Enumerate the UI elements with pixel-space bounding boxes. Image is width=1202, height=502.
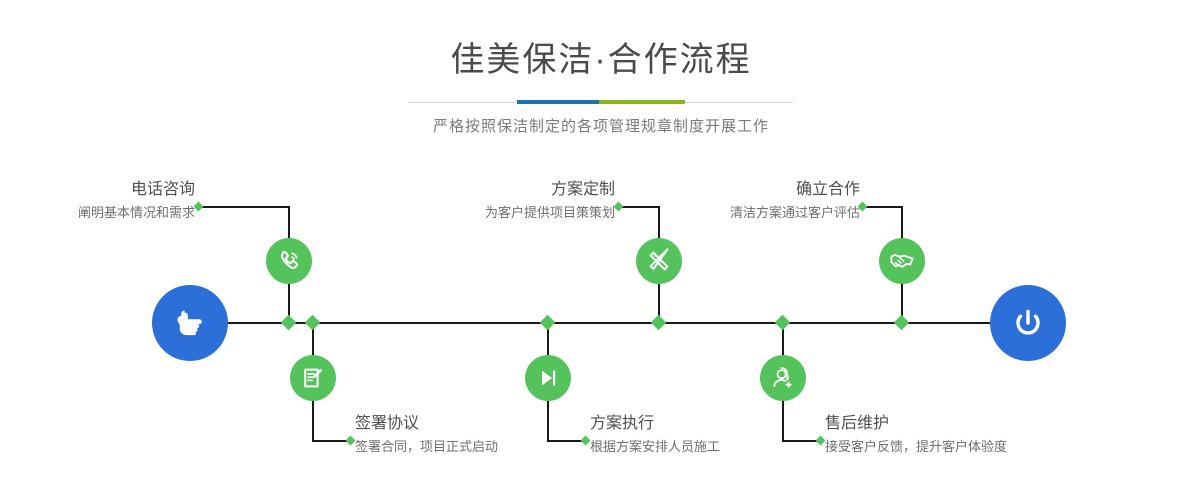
timeline-end-node [990,285,1066,361]
phone-call-icon [275,247,303,275]
step-node-1[interactable] [266,238,312,284]
divider-segment-green [599,100,685,104]
step-desc-6: 清洁方案通过客户评估 [505,204,860,222]
axis-marker-step-4 [540,315,556,331]
pointing-hand-icon [170,303,210,343]
step-title-1: 电话咨询 [0,180,195,200]
step-node-6[interactable] [879,238,925,284]
support-agent-add-icon [769,364,797,392]
step-label-5: 售后维护 接受客户反馈，提升客户体验度 [825,414,1185,456]
page-subtitle: 严格按照保洁制定的各项管理规章制度开展工作 [0,105,1202,137]
step-title-5: 售后维护 [825,414,1185,434]
step-node-3[interactable] [636,238,682,284]
play-execute-icon [534,364,562,392]
pencil-ruler-icon [645,247,673,275]
step-label-6: 确立合作 清洁方案通过客户评估 [505,180,860,222]
axis-marker-step-5 [775,315,791,331]
title-divider [409,100,793,105]
step-desc-1: 阐明基本情况和需求 [0,204,195,222]
document-edit-icon [299,364,327,392]
axis-marker-step-1 [281,315,297,331]
handshake-icon [888,247,916,275]
timeline-start-node [152,285,228,361]
connector-dot-step-2 [346,436,356,446]
page-header: 佳美保洁·合作流程 严格按照保洁制定的各项管理规章制度开展工作 [0,0,1202,137]
step-node-2[interactable] [290,355,336,401]
step-desc-5: 接受客户反馈，提升客户体验度 [825,438,1185,456]
axis-marker-step-2 [305,315,321,331]
divider-segment-blue [517,100,599,104]
step-title-6: 确立合作 [505,180,860,200]
connector-dot-step-1 [194,202,204,212]
step-label-1: 电话咨询 阐明基本情况和需求 [0,180,195,222]
page-title: 佳美保洁·合作流程 [0,0,1202,80]
axis-marker-step-6 [894,315,910,331]
axis-marker-step-3 [651,315,667,331]
power-button-icon [1008,303,1048,343]
connector-elbow-step-6 [862,206,903,208]
step-node-4[interactable] [525,355,571,401]
connector-elbow-step-2 [312,440,350,442]
step-node-5[interactable] [760,355,806,401]
process-timeline: 电话咨询 阐明基本情况和需求 签署协议 签署合同，项目正式启动 [0,150,1202,502]
